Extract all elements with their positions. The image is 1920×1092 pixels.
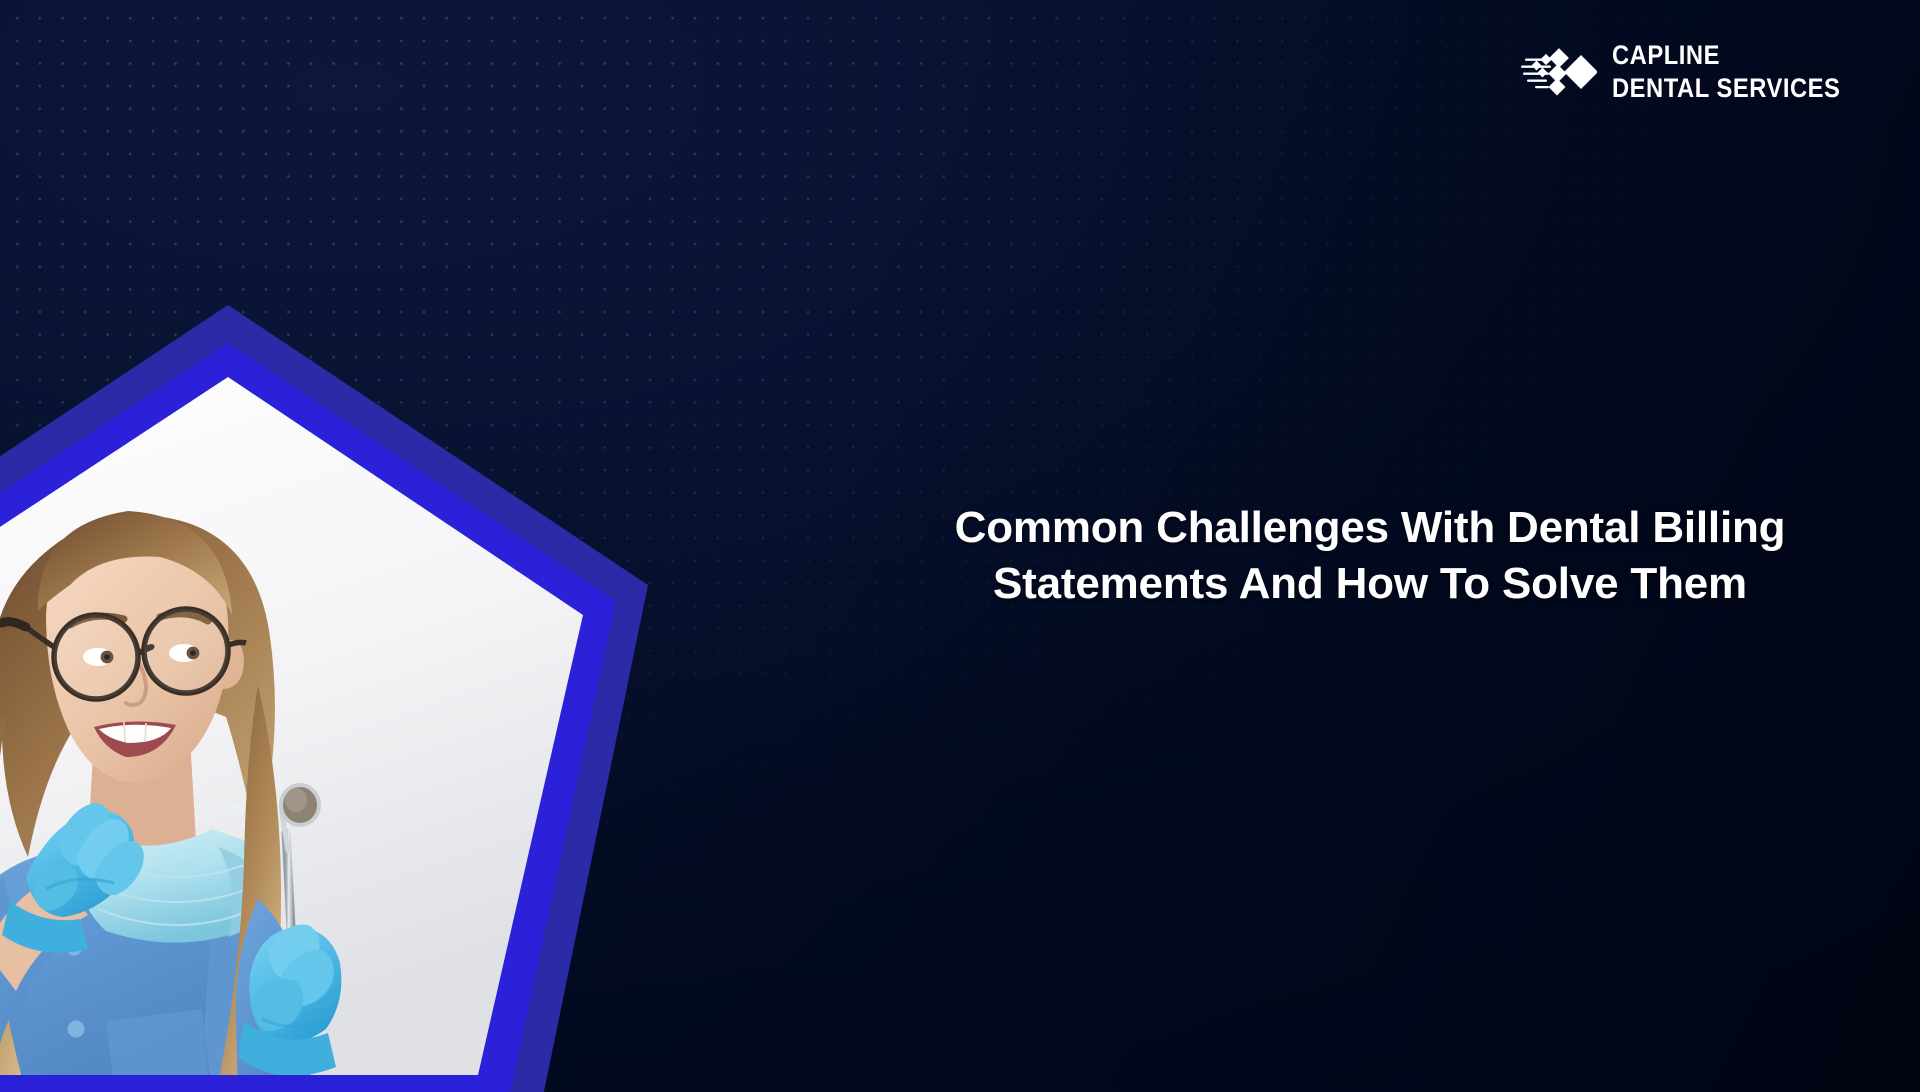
brand-name-line-2: DENTAL SERVICES (1612, 75, 1840, 102)
brand-logo[interactable]: CAPLINE DENTAL SERVICES (1521, 42, 1872, 102)
hero-banner: Common Challenges With Dental Billing St… (0, 0, 1920, 1092)
brand-logo-wordmark: CAPLINE DENTAL SERVICES (1612, 42, 1872, 102)
heptagon-photo-plate (0, 377, 583, 1075)
brand-name-line-1: CAPLINE (1612, 42, 1840, 69)
heptagon-photo-frame (0, 285, 668, 1092)
capline-diamond-mark-icon (1521, 44, 1597, 100)
page-title: Common Challenges With Dental Billing St… (930, 500, 1810, 613)
headline-line-2: Statements And How To Solve Them (930, 556, 1810, 612)
headline-line-1: Common Challenges With Dental Billing (930, 500, 1810, 556)
